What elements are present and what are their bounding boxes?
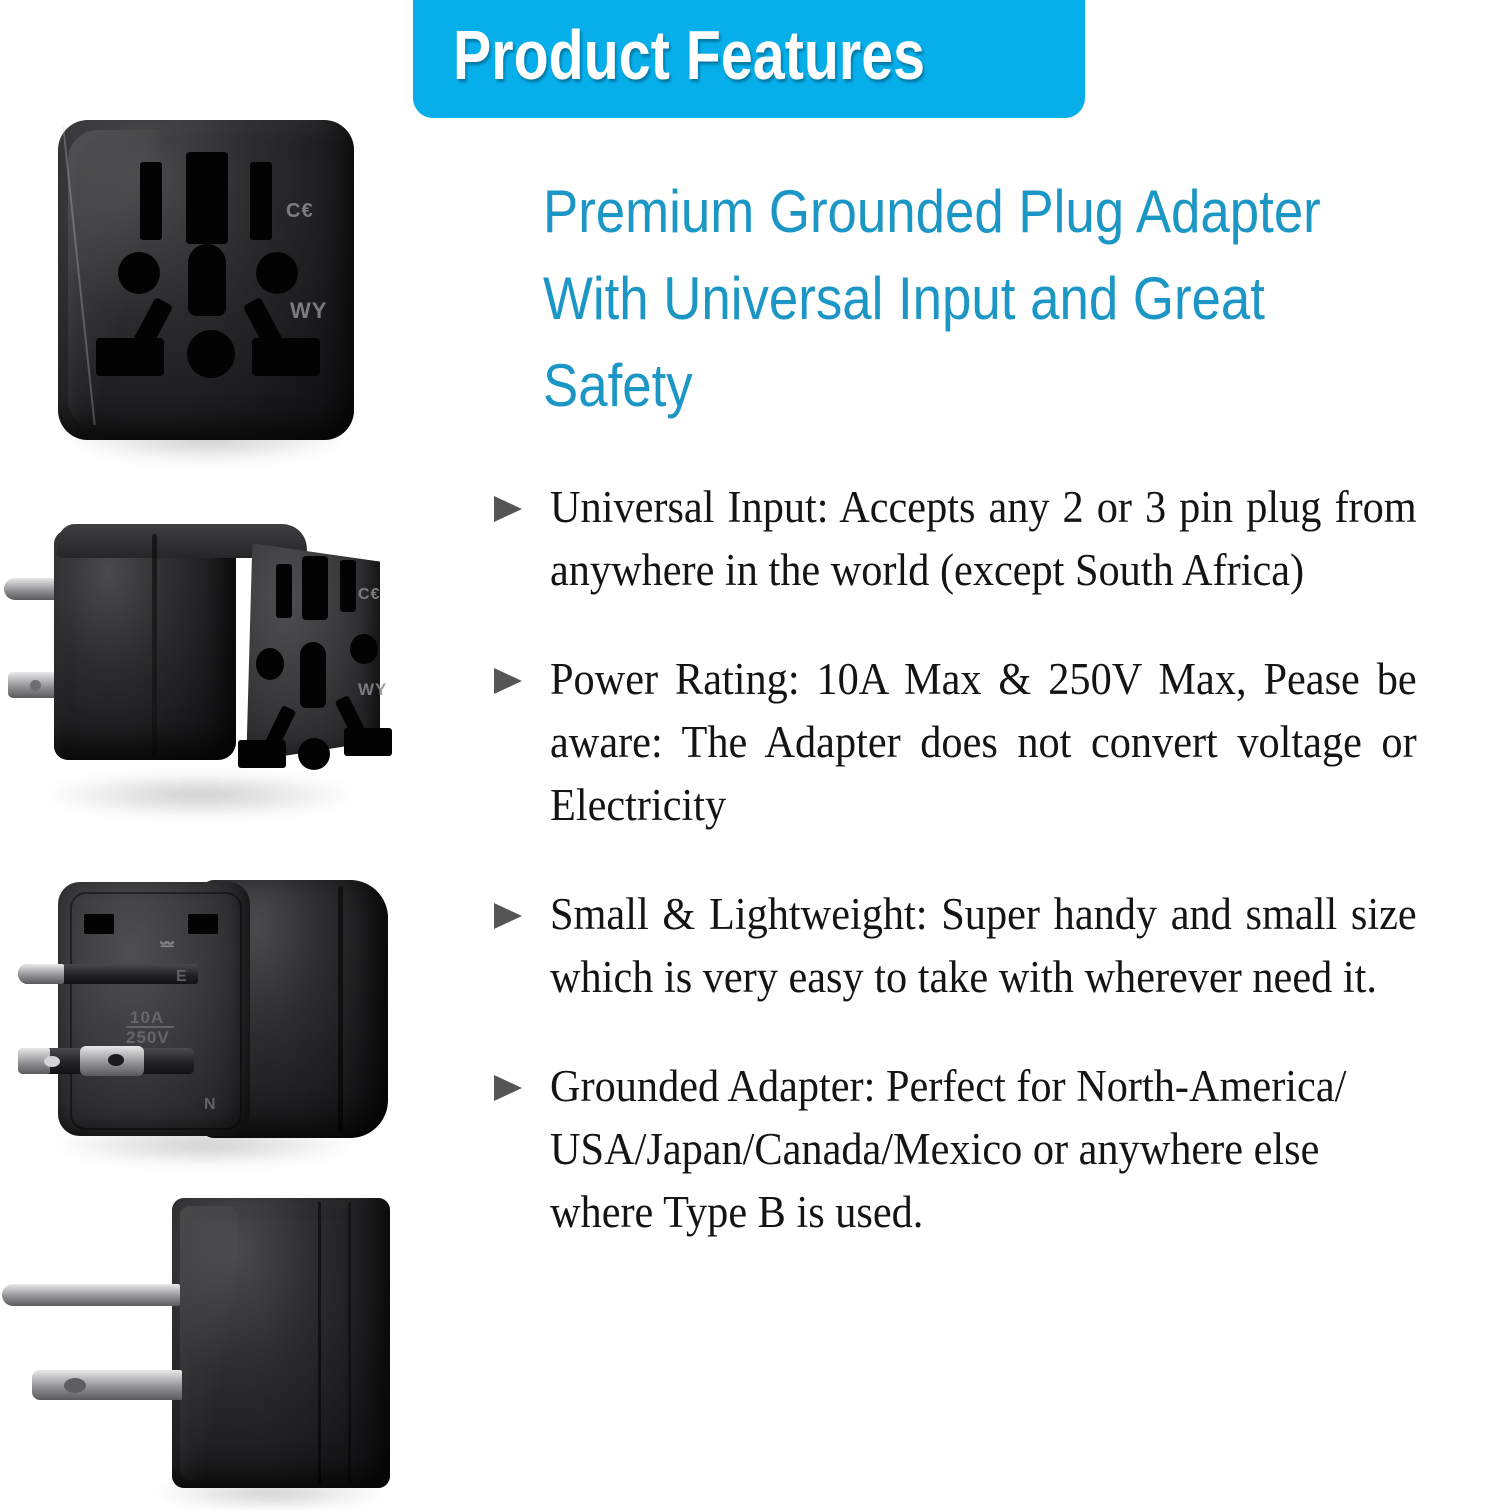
feature-list: Universal Input: Accepts any 2 or 3 pin …	[492, 476, 1472, 1290]
feature-list-item: Grounded Adapter: Perfect for North-Amer…	[492, 1055, 1472, 1244]
product-features-banner: Product Features	[413, 0, 1085, 118]
feature-list-item: Small & Lightweight: Super handy and sma…	[492, 883, 1472, 1009]
feature-text: Small & Lightweight: Super handy and sma…	[550, 883, 1417, 1009]
feature-list-item: Universal Input: Accepts any 2 or 3 pin …	[492, 476, 1472, 602]
triangle-bullet-icon	[492, 666, 524, 696]
triangle-bullet-icon	[492, 1073, 524, 1103]
feature-text: Power Rating: 10A Max & 250V Max, Pease …	[550, 648, 1417, 837]
triangle-bullet-icon	[492, 901, 524, 931]
feature-text: Grounded Adapter: Perfect for North-Amer…	[550, 1055, 1417, 1244]
product-subtitle: Premium Grounded Plug Adapter With Unive…	[543, 168, 1374, 429]
feature-text: Universal Input: Accepts any 2 or 3 pin …	[550, 476, 1417, 602]
page-title: Product Features	[453, 12, 925, 98]
feature-list-item: Power Rating: 10A Max & 250V Max, Pease …	[492, 648, 1472, 837]
triangle-bullet-icon	[492, 494, 524, 524]
content-panel: Product Features Premium Grounded Plug A…	[0, 0, 1487, 1500]
